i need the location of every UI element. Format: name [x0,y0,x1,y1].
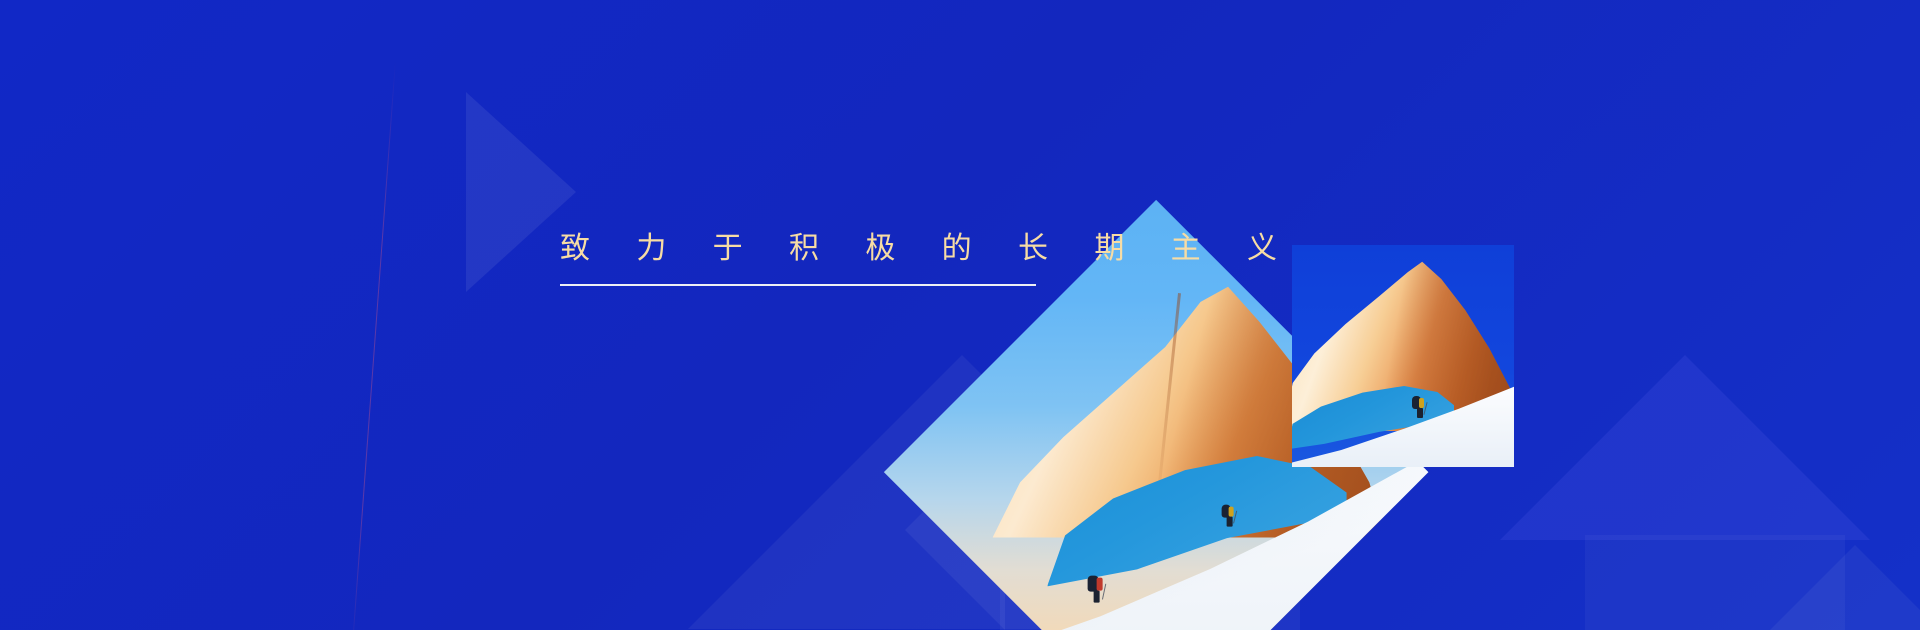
inner-photo-square [1292,245,1514,467]
page-title: 致 力 于 积 极 的 长 期 主 义 [560,232,1296,267]
climber-torso [1419,398,1424,408]
climber-legs [1227,517,1233,527]
climber-torso [1097,578,1103,591]
diagonal-hairline-decor [351,60,396,630]
small-up-triangle-decor [1770,545,1920,630]
climber-legs [1417,408,1423,418]
headline-block: 致 力 于 积 极 的 长 期 主 义 [560,232,1296,286]
purple-up-triangle-decor [1500,355,1870,540]
climber-legs [1094,591,1100,603]
hero-banner: 致 力 于 积 极 的 长 期 主 义 [0,0,1920,630]
climber-torso [1229,507,1234,517]
headline-underline [560,284,1036,286]
